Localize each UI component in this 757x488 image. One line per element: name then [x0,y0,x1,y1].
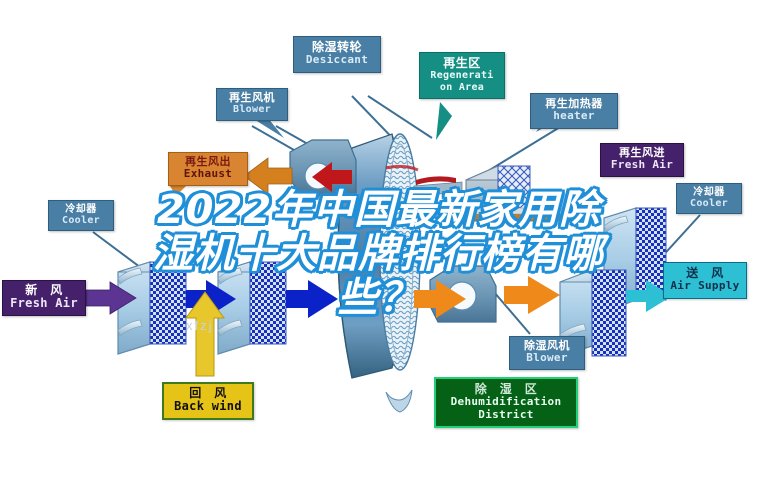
label-dehum-dist-en-line2: District [441,409,571,421]
label-dehum-dist-en-line1: Dehumidification [441,396,571,408]
label-fresh-air: 新 风 Fresh Air [2,280,86,316]
label-cooler-left: 冷却器 Cooler [48,200,114,231]
label-fresh-air-cn: 新 风 [8,284,80,297]
regeneration-blower [290,140,356,196]
cooler-unit-2 [218,262,286,354]
cooler-unit-1 [118,262,186,354]
label-regen-blower-en: Blower [221,104,283,115]
watermark-text: xfzj [186,318,214,333]
label-cooler-left-cn: 冷却器 [53,204,109,215]
diagram-canvas: 除湿转轮 Desiccant 再生风机 Blower 再生区 Regenerat… [0,0,757,488]
label-heater-en: heater [535,110,613,122]
label-back-wind-en: Back wind [169,400,247,413]
label-regeneration-fresh-air: 再生风进 Fresh Air [600,143,684,177]
regeneration-heater [462,166,578,221]
label-regen-blower-cn: 再生风机 [221,92,283,104]
label-cooler-right-en: Cooler [681,198,737,209]
label-exhaust: 再生风出 Exhaust [168,152,248,186]
label-dehum-blower-en: Blower [514,352,580,364]
arrow-blower-out [504,276,560,314]
label-regeneration-blower: 再生风机 Blower [216,88,288,121]
label-regen-area-cn: 再生区 [424,57,500,70]
arrow-exhaust [244,158,292,194]
label-exhaust-en: Exhaust [173,168,243,180]
label-cooler-right-cn: 冷却器 [681,187,737,198]
label-back-wind: 回 风 Back wind [162,382,254,420]
label-desiccant-cn: 除湿转轮 [299,41,375,54]
label-cooler-right: 冷却器 Cooler [676,183,742,214]
label-regeneration-area: 再生区 Regenerati on Area [419,52,505,99]
label-dehum-dist-cn: 除 湿 区 [441,383,571,396]
label-desiccant-en: Desiccant [299,54,375,66]
label-regen-fresh-en: Fresh Air [605,159,679,171]
label-regeneration-heater: 再生加热器 heater [530,93,618,129]
regen-duct-connector [414,176,462,196]
arrow-cooler2-out [286,280,338,318]
label-air-supply-en: Air Supply [669,280,741,292]
label-fresh-air-en: Fresh Air [8,297,80,310]
label-air-supply-cn: 送 风 [669,267,741,280]
label-back-wind-cn: 回 风 [169,387,247,400]
dehumidifier-schematic [0,0,757,488]
label-regen-area-en-line1: Regenerati [424,70,500,81]
label-dehumidification-district: 除 湿 区 Dehumidification District [434,377,578,428]
label-dehumidification-blower: 除湿风机 Blower [509,336,585,370]
label-regen-area-en-line2: on Area [424,82,500,93]
label-air-supply: 送 风 Air Supply [663,262,747,299]
label-desiccant: 除湿转轮 Desiccant [293,36,381,73]
label-cooler-left-en: Cooler [53,215,109,226]
